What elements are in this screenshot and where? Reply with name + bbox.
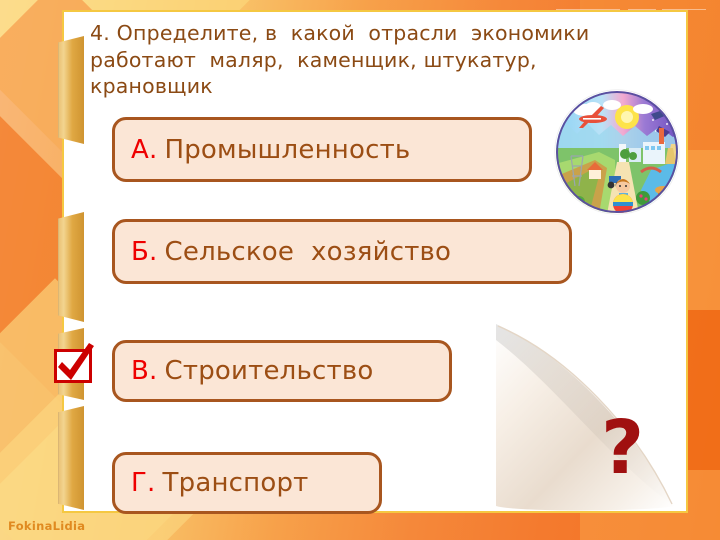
slide-root: 4. Определите, в какой отрасли экономики… — [0, 0, 720, 540]
content-panel: 4. Определите, в какой отрасли экономики… — [62, 10, 688, 513]
option-c-letter: В. — [131, 356, 158, 386]
page-curl-corner — [496, 316, 686, 511]
option-d-letter: Г. — [131, 468, 156, 498]
option-c-label: Строительство — [165, 356, 374, 386]
option-d[interactable]: Г. Транспорт — [112, 452, 382, 514]
question-text: 4. Определите, в какой отрасли экономики… — [90, 20, 650, 100]
option-a[interactable]: А. Промышленность — [112, 117, 532, 182]
binding-tab-4 — [58, 406, 84, 510]
binding-tab-1 — [58, 36, 84, 144]
question-mark-glyph: ? — [601, 411, 644, 485]
question-line-1: 4. Определите, в какой отрасли экономики — [90, 20, 650, 47]
option-a-label: Промышленность — [164, 135, 410, 165]
option-b[interactable]: Б. Сельское хозяйство — [112, 219, 572, 284]
option-b-letter: Б. — [131, 237, 158, 267]
option-d-label: Транспорт — [163, 468, 309, 498]
author-watermark: FokinaLidia — [8, 519, 85, 533]
question-line-3: крановщик — [90, 73, 650, 100]
economy-circle-illustration — [555, 90, 679, 214]
option-a-letter: А. — [131, 135, 157, 165]
binding-tab-2 — [58, 212, 84, 322]
option-c[interactable]: В. Строительство — [112, 340, 452, 402]
question-line-2: работают маляр, каменщик, штукатур, — [90, 47, 650, 74]
correct-answer-checkbox[interactable] — [52, 341, 100, 389]
option-b-label: Сельское хозяйство — [165, 237, 452, 267]
check-mark-icon — [52, 341, 100, 389]
